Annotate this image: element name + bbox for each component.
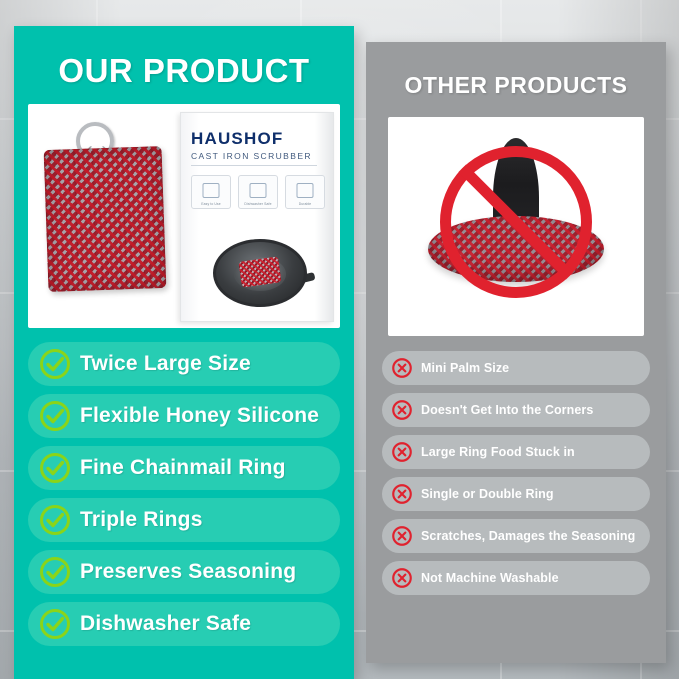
drawback-label: Large Ring Food Stuck in bbox=[421, 445, 575, 459]
drawback-row-large-ring-food-stuck: Large Ring Food Stuck in bbox=[382, 435, 650, 469]
cross-circle-icon bbox=[392, 568, 412, 588]
cross-circle-icon bbox=[392, 484, 412, 504]
box-badge-group: Easy to Use Dishwasher Safe Durable bbox=[191, 175, 325, 209]
retail-box: HAUSHOF CAST IRON SCRUBBER Easy to Use D… bbox=[180, 112, 334, 322]
drawback-label: Mini Palm Size bbox=[421, 361, 509, 375]
drawback-row-mini-palm-size: Mini Palm Size bbox=[382, 351, 650, 385]
check-circle-icon bbox=[40, 505, 70, 535]
feature-row-preserves-seasoning: Preserves Seasoning bbox=[28, 550, 340, 594]
feature-label: Twice Large Size bbox=[80, 352, 251, 376]
check-circle-icon bbox=[40, 349, 70, 379]
drawback-label: Not Machine Washable bbox=[421, 571, 559, 585]
feature-row-flexible-honey-silicone: Flexible Honey Silicone bbox=[28, 394, 340, 438]
box-badge: Durable bbox=[285, 175, 325, 209]
cross-circle-icon bbox=[392, 526, 412, 546]
feature-label: Fine Chainmail Ring bbox=[80, 456, 286, 480]
feature-label: Dishwasher Safe bbox=[80, 612, 251, 636]
cross-circle-icon bbox=[392, 400, 412, 420]
check-circle-icon bbox=[40, 609, 70, 639]
drawback-row-single-or-double-ring: Single or Double Ring bbox=[382, 477, 650, 511]
our-product-photo: HAUSHOF CAST IRON SCRUBBER Easy to Use D… bbox=[28, 104, 340, 328]
our-product-title: OUR PRODUCT bbox=[14, 26, 354, 94]
drawback-label: Scratches, Damages the Seasoning bbox=[421, 529, 635, 543]
box-subtitle-text: CAST IRON SCRUBBER bbox=[191, 151, 312, 161]
feature-row-twice-large-size: Twice Large Size bbox=[28, 342, 340, 386]
feature-label: Flexible Honey Silicone bbox=[80, 404, 319, 428]
feature-row-triple-rings: Triple Rings bbox=[28, 498, 340, 542]
box-badge-caption: Durable bbox=[286, 202, 324, 206]
other-products-panel: OTHER PRODUCTS Mini Palm Size Doesn't Ge… bbox=[366, 42, 666, 663]
check-circle-icon bbox=[40, 557, 70, 587]
drawback-row-scratches-seasoning: Scratches, Damages the Seasoning bbox=[382, 519, 650, 553]
check-circle-icon bbox=[40, 453, 70, 483]
cross-circle-icon bbox=[392, 442, 412, 462]
box-badge: Easy to Use bbox=[191, 175, 231, 209]
our-product-panel: OUR PRODUCT HAUSHOF CAST IRON SCRUBBER E… bbox=[14, 26, 354, 679]
box-badge-caption: Easy to Use bbox=[192, 202, 230, 206]
skillet-body bbox=[213, 239, 307, 307]
chainmail-in-skillet bbox=[238, 256, 281, 287]
other-products-photo bbox=[388, 117, 644, 336]
other-products-title: OTHER PRODUCTS bbox=[366, 42, 666, 105]
skillet-illustration bbox=[197, 235, 315, 311]
prohibition-sign-icon bbox=[440, 146, 592, 298]
other-products-feature-list: Mini Palm Size Doesn't Get Into the Corn… bbox=[366, 351, 666, 595]
box-badge: Dishwasher Safe bbox=[238, 175, 278, 209]
feature-row-dishwasher-safe: Dishwasher Safe bbox=[28, 602, 340, 646]
drawback-label: Doesn't Get Into the Corners bbox=[421, 403, 593, 417]
drawback-label: Single or Double Ring bbox=[421, 487, 554, 501]
cross-circle-icon bbox=[392, 358, 412, 378]
drawback-row-corners: Doesn't Get Into the Corners bbox=[382, 393, 650, 427]
box-divider bbox=[191, 165, 317, 166]
box-brand-text: HAUSHOF bbox=[191, 129, 283, 149]
chainmail-scrubber bbox=[44, 146, 167, 292]
check-circle-icon bbox=[40, 401, 70, 431]
drawback-row-not-machine-washable: Not Machine Washable bbox=[382, 561, 650, 595]
feature-label: Preserves Seasoning bbox=[80, 560, 296, 584]
box-badge-caption: Dishwasher Safe bbox=[239, 202, 277, 206]
feature-label: Triple Rings bbox=[80, 508, 203, 532]
feature-row-fine-chainmail-ring: Fine Chainmail Ring bbox=[28, 446, 340, 490]
prohibition-sign-bar bbox=[458, 164, 573, 279]
our-product-feature-list: Twice Large Size Flexible Honey Silicone… bbox=[14, 342, 354, 646]
